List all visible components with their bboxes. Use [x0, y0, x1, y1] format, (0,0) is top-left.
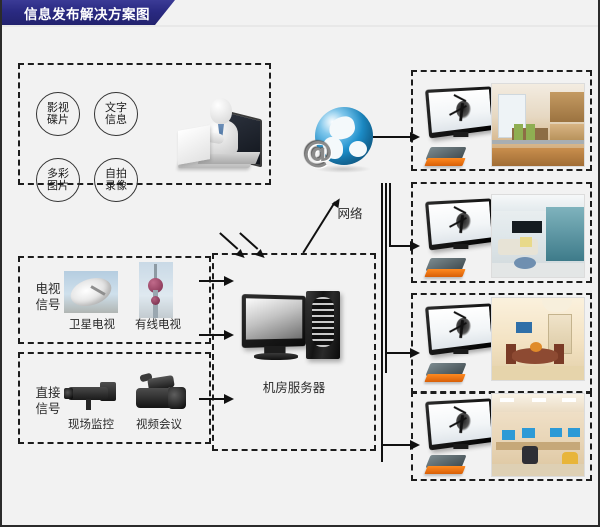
video-conference-caption: 视频会议 [128, 418, 190, 432]
circle-label-line2: 信息 [105, 114, 127, 126]
tv-tower-icon [139, 262, 173, 318]
flatscreen-tv-icon [427, 88, 497, 140]
tv-stand [453, 132, 468, 137]
player-orange-base [424, 466, 465, 474]
tv-signal-label-line1: 电视 [28, 281, 68, 296]
connector-tv-to-server-line-1 [199, 280, 225, 282]
diagram-canvas: 信息发布解决方案图 影视 碟片 文字 信息 多彩 图片 自拍 录像 电视 信号 [0, 0, 600, 527]
media-player-box-icon [426, 455, 466, 477]
room-photo-kitchen [491, 83, 585, 167]
bus-line-3 [389, 183, 391, 245]
banner-angled-tail [155, 0, 175, 25]
figure-head [210, 98, 232, 124]
bus-line-2 [385, 183, 387, 373]
connector-tv-to-server-arrow-2 [224, 330, 234, 340]
network-caption: 网络 [327, 206, 373, 221]
video-camera-icon [130, 370, 188, 414]
connector-network-to-display-2-arrow [410, 241, 420, 251]
media-player-box-icon [426, 363, 466, 385]
camera-lens [64, 388, 73, 399]
connector-tv-to-server-arrow-1 [224, 276, 234, 286]
circle-label-line2: 录像 [105, 180, 127, 192]
connector-media-to-server-b [239, 232, 258, 249]
connector-direct-to-server-arrow [224, 394, 234, 404]
media-source-circle-self-recording[interactable]: 自拍 录像 [94, 158, 138, 202]
tower-lower-sphere [151, 296, 160, 305]
direct-signal-label-line1: 直接 [28, 385, 68, 400]
flatscreen-tv-icon [427, 400, 497, 452]
surveillance-camera-icon [64, 373, 120, 413]
at-symbol-icon: @ [297, 131, 339, 173]
player-orange-base [424, 158, 465, 166]
connector-media-to-server-a [219, 232, 238, 249]
tv-screen [428, 89, 491, 132]
desktop-server-icon [242, 291, 346, 367]
server-monitor-screen [246, 298, 302, 339]
media-player-box-icon [426, 258, 466, 280]
connector-tv-to-server-line-2 [199, 334, 225, 336]
connector-network-to-display-1-line [373, 136, 411, 138]
media-player-box-icon [426, 147, 466, 169]
circle-label-line2: 碟片 [47, 114, 69, 126]
server-monitor [242, 294, 306, 348]
person-at-laptop-icon [174, 98, 266, 186]
page-title-banner: 信息发布解决方案图 [2, 0, 155, 25]
media-source-circle-images[interactable]: 多彩 图片 [36, 158, 80, 202]
connector-network-to-display-2-line [389, 245, 411, 247]
figure-paper-sheet [178, 125, 210, 165]
media-source-circle-video-disc[interactable]: 影视 碟片 [36, 92, 80, 136]
tv-frame [425, 86, 495, 138]
tv-stand [453, 244, 468, 249]
tv-screen [428, 401, 491, 444]
tv-frame [425, 398, 495, 450]
tv-stand [453, 444, 468, 449]
connector-network-to-display-1-arrow [410, 132, 420, 142]
connector-direct-to-server-line [199, 398, 225, 400]
connector-network-to-display-4-line [381, 444, 411, 446]
room-photo-living-room [491, 194, 585, 278]
direct-signal-label-line2: 信号 [28, 401, 68, 416]
connector-network-to-display-3-arrow [410, 348, 420, 358]
connector-network-to-display-4-arrow [410, 440, 420, 450]
tv-screen [428, 306, 491, 349]
server-tower-vents [312, 297, 334, 347]
bus-line-1 [381, 183, 383, 462]
satellite-tv-caption: 卫星电视 [62, 318, 122, 332]
flatscreen-tv-icon [427, 305, 497, 357]
tv-frame [425, 303, 495, 355]
circle-label-line2: 图片 [47, 180, 69, 192]
server-monitor-foot [254, 353, 298, 360]
room-photo-office [491, 393, 585, 477]
flatscreen-tv-icon [427, 200, 497, 252]
tv-signal-label-line2: 信号 [28, 297, 68, 312]
banner-underline [2, 25, 600, 27]
globe-at-icon: @ [297, 105, 375, 183]
onsite-surveillance-caption: 现场监控 [60, 418, 122, 432]
camcorder-lens [168, 387, 186, 409]
globe-landmass-south [349, 141, 367, 157]
player-orange-base [424, 269, 465, 277]
media-source-circle-text-info[interactable]: 文字 信息 [94, 92, 138, 136]
connector-network-to-display-3-line [385, 352, 411, 354]
tv-stand [453, 349, 468, 354]
page-title: 信息发布解决方案图 [24, 3, 150, 23]
satellite-dish-icon [64, 271, 118, 313]
connector-server-to-network-line [302, 201, 335, 253]
server-caption: 机房服务器 [242, 380, 346, 395]
camera-mount-arm [86, 399, 91, 410]
room-photo-dining-room [491, 297, 585, 381]
player-orange-base [424, 374, 465, 382]
cable-tv-caption: 有线电视 [128, 318, 188, 332]
tv-screen [428, 201, 491, 244]
tv-frame [425, 198, 495, 250]
